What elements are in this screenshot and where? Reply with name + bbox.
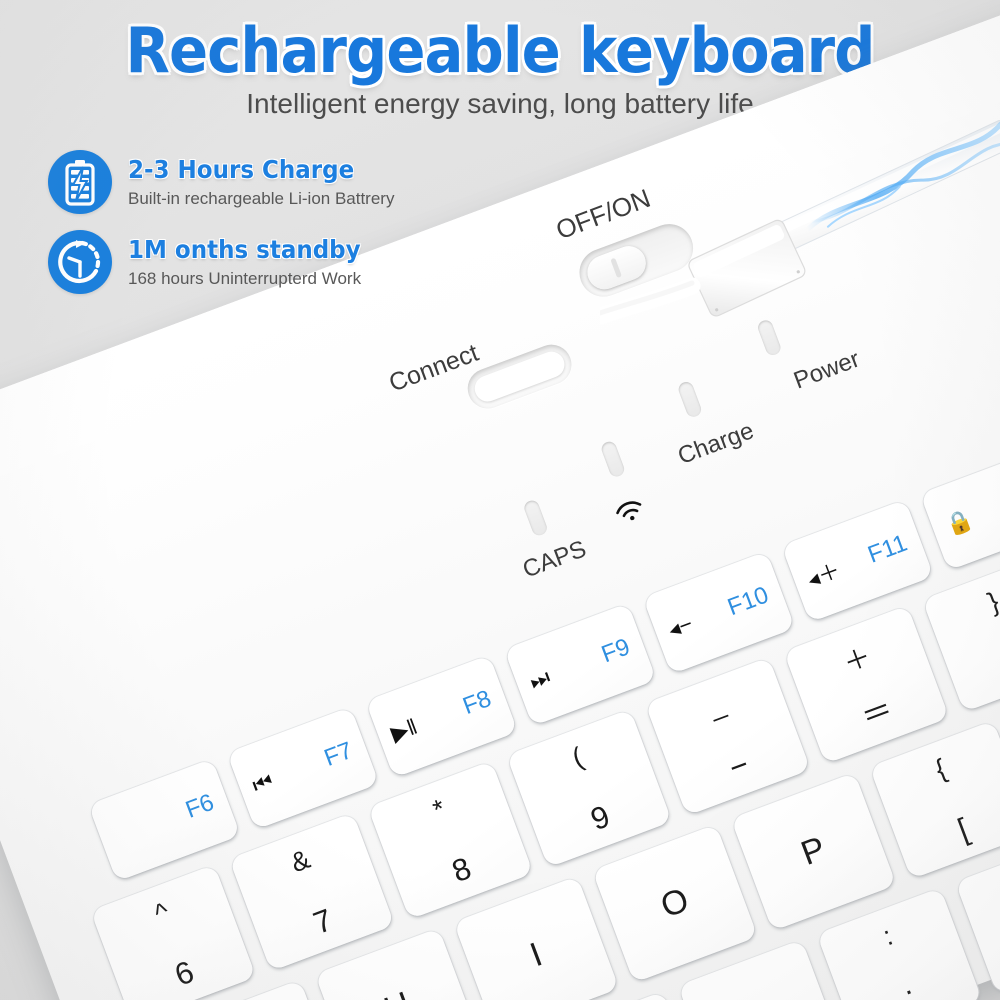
usb-charging-cable xyxy=(600,120,1000,340)
key-f9-label: F9 xyxy=(598,633,634,669)
feature-standby-subtitle: 168 hours Uninterrupterd Work xyxy=(128,269,381,289)
battery-charging-icon xyxy=(48,150,112,214)
key-o-glyph: O xyxy=(606,862,743,945)
key-f9-media-glyph: ⏭ xyxy=(526,664,554,695)
key-f10-media-glyph: ◂− xyxy=(665,611,696,644)
key-f7-label: F7 xyxy=(321,737,357,773)
key-i-glyph: I xyxy=(468,914,605,997)
feature-charge-subtitle: Built-in rechargeable Li-ion Battrery xyxy=(128,189,394,209)
key-f10-label: F10 xyxy=(724,581,773,622)
key-f7-media-glyph: ⏮ xyxy=(249,768,277,799)
feature-standby-time: 1M onths standby 168 hours Uninterrupter… xyxy=(48,230,394,294)
key-f11-media-glyph: ◂＋ xyxy=(802,553,844,595)
clock-standby-icon xyxy=(48,230,112,294)
key-semicolon-glyph: ; xyxy=(842,957,978,1000)
feature-charge-title: 2-3 Hours Charge xyxy=(128,156,373,185)
key-f12-lock-icon: 🔒 xyxy=(942,506,977,540)
key-f11-label: F11 xyxy=(864,530,911,570)
key-f8-label: F8 xyxy=(459,685,495,721)
product-banner: Rechargeable keyboard Intelligent energy… xyxy=(0,0,1000,1000)
key-l-glyph: L xyxy=(692,977,829,1000)
feature-standby-title: 1M onths standby xyxy=(128,236,361,265)
feature-charge-time: 2-3 Hours Charge Built-in rechargeable L… xyxy=(48,150,394,214)
key-right-bracket-glyph: ] xyxy=(948,623,1000,703)
feature-list: 2-3 Hours Charge Built-in rechargeable L… xyxy=(48,150,394,310)
key-p-glyph: P xyxy=(745,810,882,893)
key-u-glyph: U xyxy=(329,966,466,1000)
key-f8-media-glyph: ▶‖ xyxy=(387,714,420,747)
key-f6-label: F6 xyxy=(182,789,218,825)
page-title: Rechargeable keyboard xyxy=(35,14,965,87)
